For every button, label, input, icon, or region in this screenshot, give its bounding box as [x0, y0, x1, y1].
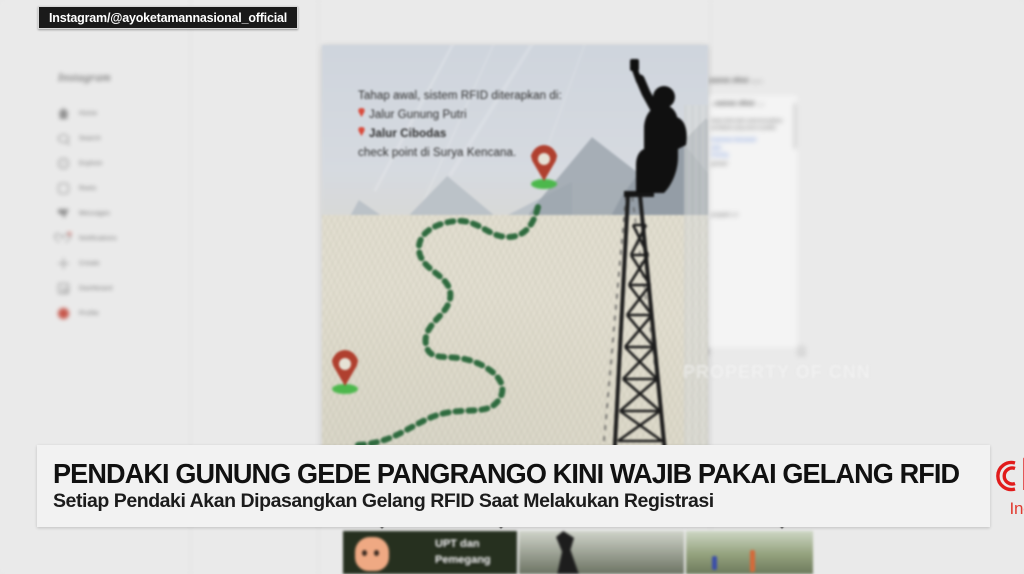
comment-text: gerhasil: [711, 160, 793, 167]
map-pin-lower: [328, 350, 362, 394]
cnn-wordmark-icon: [985, 454, 1024, 498]
instagram-wordmark: Instagram: [58, 70, 175, 85]
source-attribution-label: Instagram/@ayoketamannasional_official: [49, 11, 287, 25]
cnn-logo-icon: [985, 454, 1024, 498]
sidebar-item-label: Search: [79, 135, 101, 142]
bookmark-icon[interactable]: [796, 344, 807, 355]
sidebar-item-label: Dashboard: [79, 285, 113, 292]
video-frame: Instagram Home Search Explore Reels Mess…: [0, 0, 1024, 574]
heart-icon: [58, 233, 69, 244]
avatar-icon: [58, 308, 69, 319]
caption-line: Jalur Gunung Putri: [358, 106, 658, 125]
dashboard-icon: [58, 283, 69, 294]
lower-third-banner: PENDAKI GUNUNG GEDE PANGRANGO KINI WAJIB…: [37, 445, 990, 527]
thumbnail-item[interactable]: UPT dan Pemegang: [343, 531, 517, 574]
sidebar-item-label: Profile: [79, 310, 99, 317]
sidebar-item-home[interactable]: Home: [58, 101, 175, 126]
comment-meta: and 5: [751, 79, 762, 84]
comment-entry-header: ...nasional_official 1 d: [711, 101, 793, 107]
property-watermark: PROPERTY OF CNN: [683, 362, 871, 383]
comment-footer: pengadin 1 d: [711, 211, 793, 218]
comments-scrollbar[interactable]: [794, 103, 796, 149]
caption-line: check point di Surya Kencana.: [358, 144, 658, 163]
location-pin-icon: [358, 127, 365, 138]
caption-text: Tahap awal, sistem RFID diterapkan di:: [358, 90, 562, 102]
comment-link[interactable]: Ketentuan Memasuki: [711, 137, 793, 145]
plus-icon: [58, 258, 69, 269]
sidebar-item-reels[interactable]: Reels: [58, 176, 175, 201]
location-pin-icon: [358, 108, 365, 119]
sidebar-item-profile[interactable]: Profile: [58, 301, 175, 326]
cnn-logo-subtitle: Indonesia: [1010, 499, 1024, 518]
caption-line: Tahap awal, sistem RFID diterapkan di:: [358, 87, 658, 106]
sidebar-item-label: Messages: [79, 210, 110, 217]
thumbnail-strip[interactable]: UPT dan Pemegang: [343, 531, 813, 574]
sidebar-item-search[interactable]: Search: [58, 126, 175, 151]
headline: PENDAKI GUNUNG GEDE PANGRANGO KINI WAJIB…: [53, 458, 959, 489]
sidebar-item-notifications[interactable]: Notifications: [58, 226, 175, 251]
comment-author: ...nasional_official: [705, 78, 748, 84]
caption-text: Jalur Cibodas: [369, 128, 446, 140]
thumbnail-item[interactable]: [686, 531, 813, 574]
cartoon-face-icon: [355, 537, 389, 571]
sidebar-item-label: Explore: [79, 160, 102, 167]
post-actions[interactable]: [700, 340, 820, 362]
comment-body-box: ...nasional_official 1 d Mulai 2026 tela…: [705, 94, 799, 349]
comment-timestamp: 1 d: [757, 102, 763, 107]
search-icon: [58, 134, 69, 143]
home-icon: [58, 108, 69, 119]
person-figure: [712, 556, 717, 570]
caption-text: Jalur Gunung Putri: [369, 109, 467, 121]
thumbnail-caption-line1: UPT dan: [435, 538, 480, 550]
comment-author: ...nasional_official: [711, 101, 754, 107]
sidebar-item-label: Create: [79, 260, 100, 267]
sidebar-item-label: Reels: [79, 185, 97, 192]
sidebar-item-label: Notifications: [79, 235, 117, 242]
compass-icon: [58, 158, 69, 169]
sidebar-item-messages[interactable]: Messages: [58, 201, 175, 226]
thumbnail-item[interactable]: [519, 531, 683, 574]
subheadline: Setiap Pendaki Akan Dipasangkan Gelang R…: [53, 489, 973, 514]
sidebar-item-dashboard[interactable]: Dashboard: [58, 276, 175, 301]
thumbnail-caption: UPT dan Pemegang: [435, 536, 517, 568]
sidebar-item-create[interactable]: Create: [58, 251, 175, 276]
comment-text: Mulai 2026 telah untuk kemudahan pendata…: [711, 117, 793, 131]
cnn-indonesia-logo: Indonesia: [981, 445, 1024, 527]
instagram-sidebar: Instagram Home Search Explore Reels Mess…: [40, 48, 175, 368]
comment-hashtag[interactable]: Jalur: [711, 145, 793, 153]
comment-hashtag[interactable]: Gunung: [711, 152, 793, 160]
comment-header: ...nasional_official and 5: [705, 78, 810, 84]
notification-dot: [68, 232, 72, 236]
thumbnail-caption-line2: Pemegang: [435, 554, 491, 566]
person-figure: [750, 550, 755, 572]
messenger-icon: [58, 208, 69, 219]
reels-icon: [58, 183, 69, 194]
instagram-post-image[interactable]: Tahap awal, sistem RFID diterapkan di: J…: [322, 45, 708, 463]
source-attribution-tag: Instagram/@ayoketamannasional_official: [38, 6, 298, 29]
sidebar-item-explore[interactable]: Explore: [58, 151, 175, 176]
post-caption: Tahap awal, sistem RFID diterapkan di: J…: [358, 87, 658, 163]
caption-line: Jalur Cibodas: [358, 125, 658, 144]
pin-hole: [339, 358, 351, 370]
caption-text: check point di Surya Kencana.: [358, 147, 516, 159]
headline-block: PENDAKI GUNUNG GEDE PANGRANGO KINI WAJIB…: [37, 445, 981, 527]
sidebar-item-label: Home: [79, 110, 97, 117]
